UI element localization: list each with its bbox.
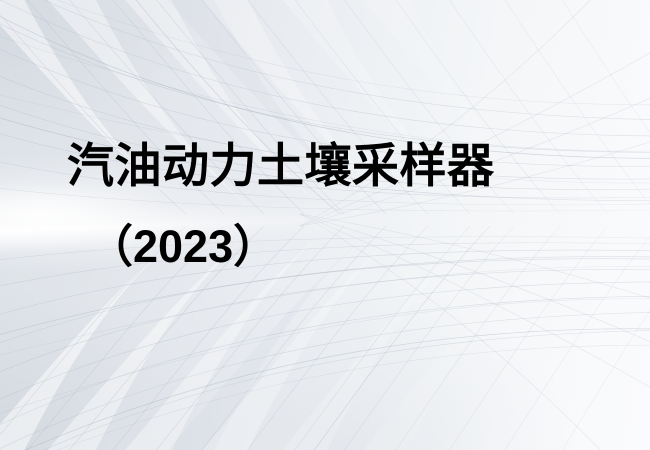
- page-title: 汽油动力土壤采样器: [0, 142, 650, 200]
- slide-title-block: 汽油动力土壤采样器 （2023）: [0, 142, 650, 280]
- page-subtitle-year: （2023）: [0, 200, 650, 280]
- title-slide: 汽油动力土壤采样器 （2023）: [0, 0, 650, 450]
